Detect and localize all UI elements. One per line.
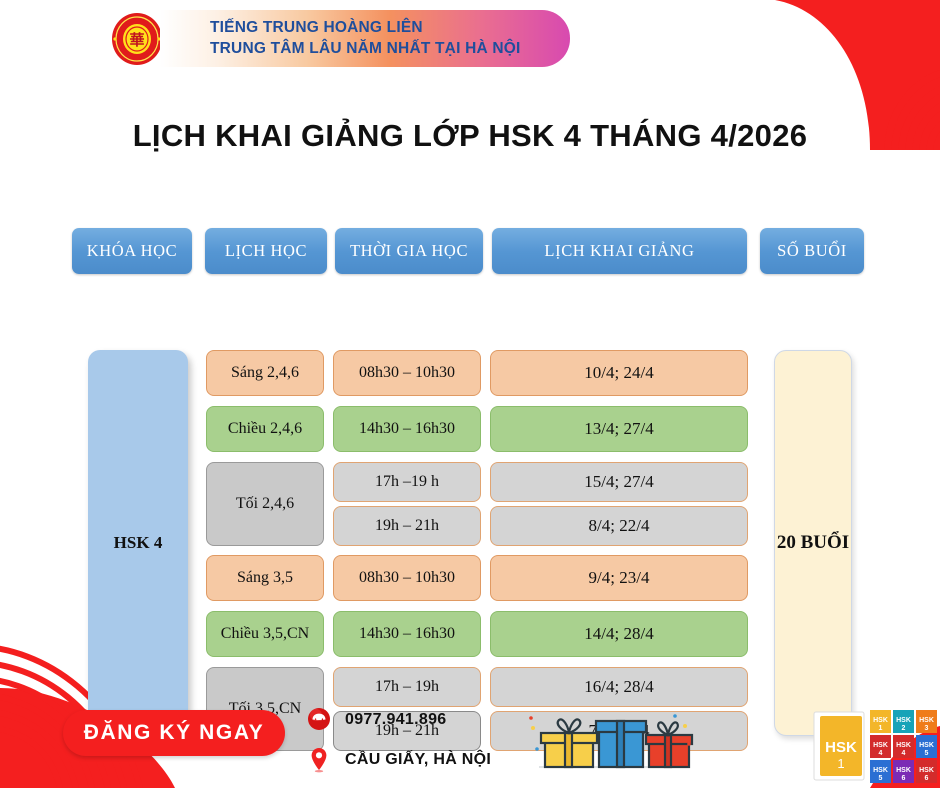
header-lich-hoc: LỊCH HỌC: [205, 228, 327, 274]
hsk-textbooks-illustration: HSK 1 HSK1 HSK2 HSK3 HSK4 HSK4 HSK5 HSK5…: [812, 702, 940, 786]
brand-banner: TIẾNG TRUNG HOÀNG LIÊN TRUNG TÂM LÂU NĂM…: [160, 10, 570, 67]
page-title: LỊCH KHAI GIẢNG LỚP HSK 4 THÁNG 4/2026: [110, 115, 830, 158]
svg-text:HSK: HSK: [896, 717, 911, 724]
opening-dates-cell: 13/4; 27/4: [490, 406, 748, 452]
svg-text:4: 4: [902, 750, 906, 757]
svg-text:華: 華: [129, 31, 144, 49]
time-cell: 14h30 – 16h30: [333, 611, 481, 657]
svg-text:1: 1: [837, 756, 844, 771]
header-lich-khai-giang: LỊCH KHAI GIẢNG: [492, 228, 747, 274]
footer: ĐĂNG KÝ NGAY 0977.941.896 CẦU GIẤY, HÀ N…: [0, 696, 940, 788]
contact-block: 0977.941.896 CẦU GIẤY, HÀ NỘI: [306, 706, 491, 774]
time-cell: 08h30 – 10h30: [333, 555, 481, 601]
schedule-cell: Tối 2,4,6: [206, 462, 324, 546]
schedule-cell: Chiều 2,4,6: [206, 406, 324, 452]
svg-text:2: 2: [902, 725, 906, 732]
opening-dates-cell: 14/4; 28/4: [490, 611, 748, 657]
schedule-cell: Sáng 2,4,6: [206, 350, 324, 396]
svg-text:HSK: HSK: [919, 717, 934, 724]
phone-number: 0977.941.896: [345, 711, 446, 729]
time-cell: 14h30 – 16h30: [333, 406, 481, 452]
brand-line-2: TRUNG TÂM LÂU NĂM NHẤT TẠI HÀ NỘI: [210, 39, 570, 60]
course-cell-hsk4: HSK 4: [88, 350, 188, 736]
schedule-cell: Sáng 3,5: [206, 555, 324, 601]
brand-line-1: TIẾNG TRUNG HOÀNG LIÊN: [210, 18, 570, 39]
svg-text:HSK: HSK: [919, 742, 934, 749]
svg-text:HSK: HSK: [873, 742, 888, 749]
svg-text:3: 3: [925, 725, 929, 732]
header-khoa-hoc: KHÓA HỌC: [72, 228, 192, 274]
svg-text:HSK: HSK: [919, 767, 934, 774]
location-row[interactable]: CẦU GIẤY, HÀ NỘI: [306, 746, 491, 774]
time-cell: 17h –19 h: [333, 462, 481, 502]
opening-dates-cell: 9/4; 23/4: [490, 555, 748, 601]
sessions-count-label: 20 BUỔI: [777, 531, 849, 556]
svg-text:5: 5: [925, 750, 929, 757]
hoang-lien-seal-logo: 華: [110, 12, 164, 66]
svg-text:HSK: HSK: [873, 717, 888, 724]
svg-text:6: 6: [902, 775, 906, 782]
opening-dates-cell: 8/4; 22/4: [490, 506, 748, 546]
svg-text:HSK: HSK: [896, 742, 911, 749]
svg-text:4: 4: [879, 750, 883, 757]
time-cell: 19h – 21h: [333, 506, 481, 546]
map-pin-icon: [306, 746, 332, 774]
svg-text:5: 5: [879, 775, 883, 782]
phone-row[interactable]: 0977.941.896: [306, 706, 491, 734]
svg-text:HSK: HSK: [873, 767, 888, 774]
table-header-row: KHÓA HỌC LỊCH HỌC THỜI GIA HỌC LỊCH KHAI…: [0, 228, 940, 278]
table-body: HSK 4 20 BUỔI Sáng 2,4,608h30 – 10h3010/…: [0, 278, 940, 698]
register-button[interactable]: ĐĂNG KÝ NGAY: [63, 710, 285, 756]
header-so-buoi: SỐ BUỔI: [760, 228, 864, 274]
time-cell: 08h30 – 10h30: [333, 350, 481, 396]
schedule-cell: Chiều 3,5,CN: [206, 611, 324, 657]
header-thoi-gia-hoc: THỜI GIA HỌC: [335, 228, 483, 274]
gift-boxes-illustration: [525, 704, 695, 782]
schedule-table: KHÓA HỌC LỊCH HỌC THỜI GIA HỌC LỊCH KHAI…: [0, 228, 940, 698]
opening-dates-cell: 15/4; 27/4: [490, 462, 748, 502]
svg-text:HSK: HSK: [825, 739, 857, 756]
svg-text:6: 6: [925, 775, 929, 782]
svg-text:HSK: HSK: [896, 767, 911, 774]
sessions-cell: 20 BUỔI: [774, 350, 852, 736]
location-text: CẦU GIẤY, HÀ NỘI: [345, 751, 491, 769]
svg-text:1: 1: [879, 725, 883, 732]
opening-dates-cell: 10/4; 24/4: [490, 350, 748, 396]
phone-icon: [306, 706, 332, 734]
